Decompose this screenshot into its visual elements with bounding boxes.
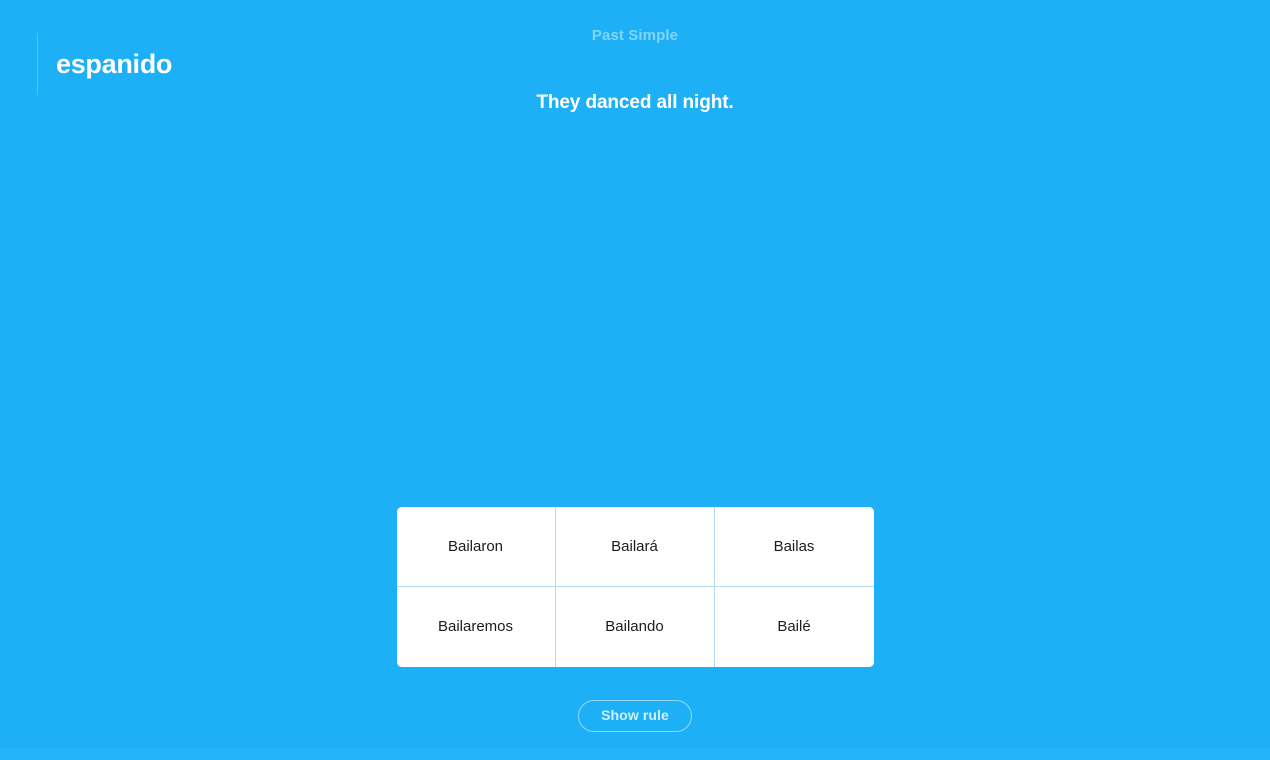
answer-option[interactable]: Bailas [715,507,874,587]
answer-option[interactable]: Bailaremos [397,587,556,667]
answer-option[interactable]: Bailará [556,507,715,587]
answer-option[interactable]: Bailando [556,587,715,667]
answer-option[interactable]: Bailé [715,587,874,667]
footer-strip [0,748,1270,760]
answer-option-label: Bailé [777,617,810,637]
answer-option-label: Bailará [611,537,658,557]
answer-option[interactable]: Bailaron [397,507,556,587]
show-rule-section: Show rule [0,700,1270,732]
prompt-block: Past Simple They danced all night. [0,26,1270,115]
show-rule-button[interactable]: Show rule [578,700,692,732]
prompt-sentence: They danced all night. [0,91,1270,115]
answer-option-label: Bailaremos [438,617,513,637]
answer-option-label: Bailaron [448,537,503,557]
answer-grid: Bailaron Bailará Bailas Bailaremos Baila… [397,507,874,667]
answer-option-label: Bailas [774,537,815,557]
tense-label: Past Simple [0,26,1270,46]
answers-section: Bailaron Bailará Bailas Bailaremos Baila… [0,507,1270,667]
app-header: espanido Past Simple They danced all nig… [0,0,1270,140]
answer-option-label: Bailando [605,617,663,637]
